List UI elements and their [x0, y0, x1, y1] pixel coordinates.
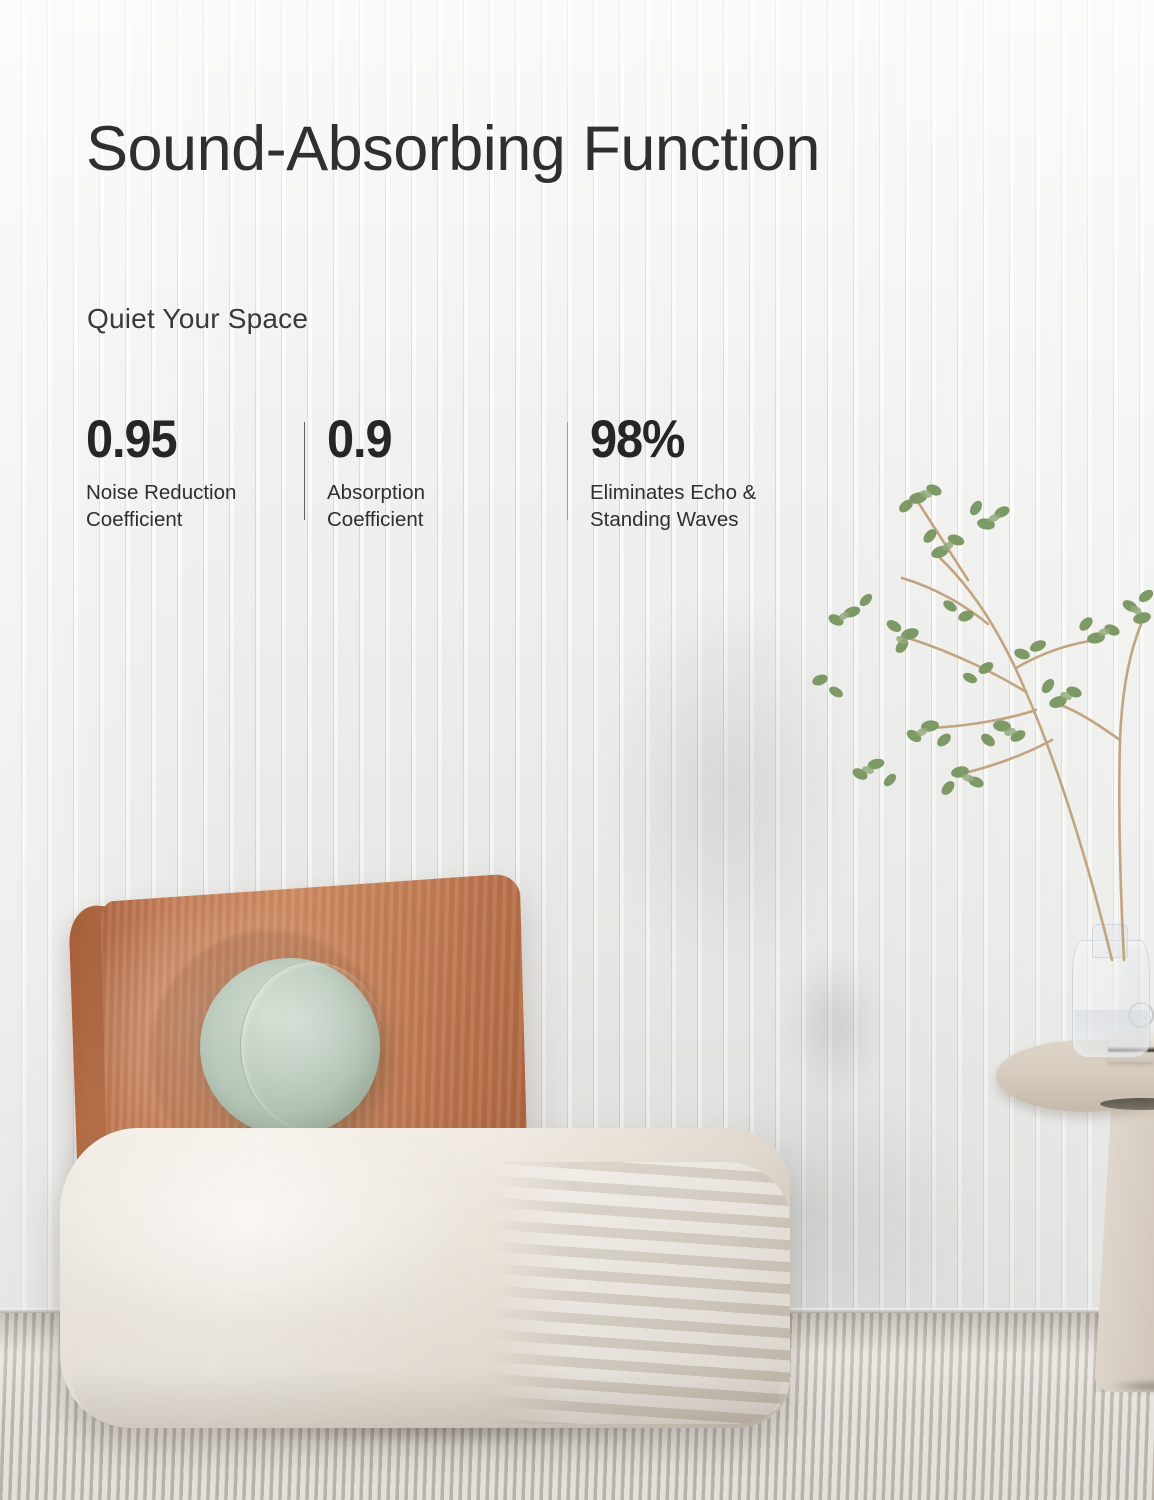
stat-eliminates-echo: 98% Eliminates Echo & Standing Waves [590, 412, 850, 534]
pillow-seam-highlight [240, 962, 388, 1133]
stat-divider [304, 422, 305, 520]
stat-absorption-coefficient: 0.9 Absorption Coefficient [327, 412, 545, 534]
stat-value: 0.95 [86, 412, 266, 467]
table-base-shadow [1092, 1380, 1154, 1396]
stat-noise-reduction-coefficient: 0.95 Noise Reduction Coefficient [86, 412, 282, 534]
stat-divider [567, 422, 568, 520]
glass-vase-water-line [1074, 1010, 1148, 1056]
room-scene-image [0, 0, 1154, 1500]
stat-label: Noise Reduction Coefficient [86, 479, 282, 534]
page-subtitle: Quiet Your Space [87, 303, 308, 335]
stats-row: 0.95 Noise Reduction Coefficient 0.9 Abs… [86, 412, 850, 534]
lounge-chair [60, 880, 820, 1440]
stat-value: 98% [590, 412, 829, 467]
stat-label: Absorption Coefficient [327, 479, 545, 534]
seat-front-shading [70, 1370, 780, 1428]
chair-seat-cushion [60, 1128, 790, 1428]
stat-value: 0.9 [327, 412, 528, 467]
pedestal-side-table [996, 1040, 1154, 1400]
page-title: Sound-Absorbing Function [86, 110, 846, 189]
product-feature-banner: Sound-Absorbing Function Quiet Your Spac… [0, 0, 1154, 1500]
round-sage-pillow [200, 958, 380, 1136]
stat-label: Eliminates Echo & Standing Waves [590, 479, 850, 534]
table-pedestal-base [1094, 1102, 1154, 1392]
